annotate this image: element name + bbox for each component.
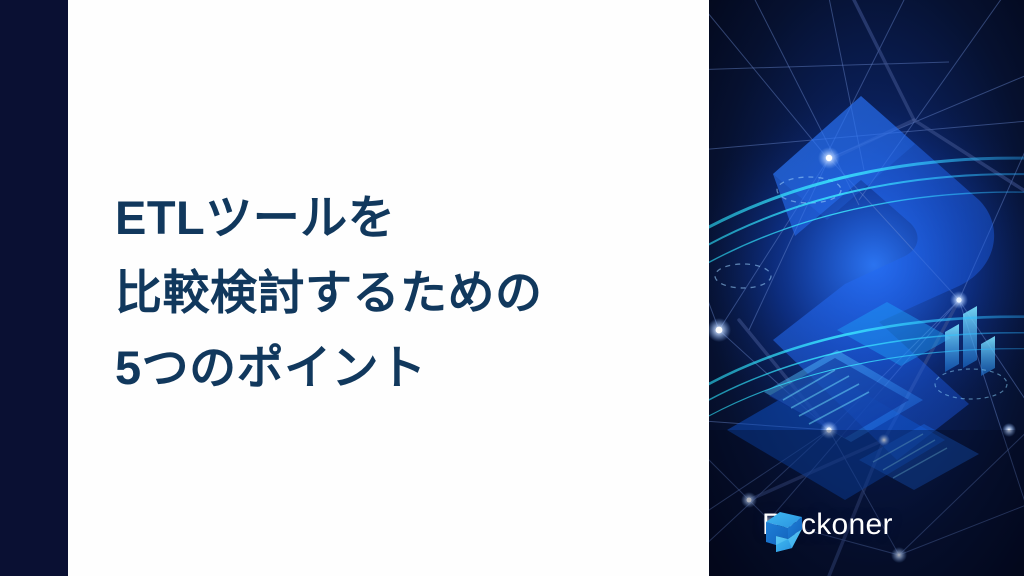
slide-content-area: ETLツールを 比較検討するための 5つのポイント [68,0,709,576]
title-line-3: 5つのポイント [115,330,695,405]
slide-title: ETLツールを 比較検討するための 5つのポイント [115,180,695,405]
hero-image-panel: Reckoner [709,0,1024,576]
abstract-network-nodes-icon [709,0,1024,576]
reckoner-cube-logo-icon [762,510,806,554]
title-line-1: ETLツールを [115,180,695,255]
title-line-2: 比較検討するための [115,255,695,330]
left-accent-bar [0,0,68,576]
brand-logo-lockup: Reckoner [762,510,893,540]
presentation-slide: ETLツールを 比較検討するための 5つのポイント [0,0,1024,576]
